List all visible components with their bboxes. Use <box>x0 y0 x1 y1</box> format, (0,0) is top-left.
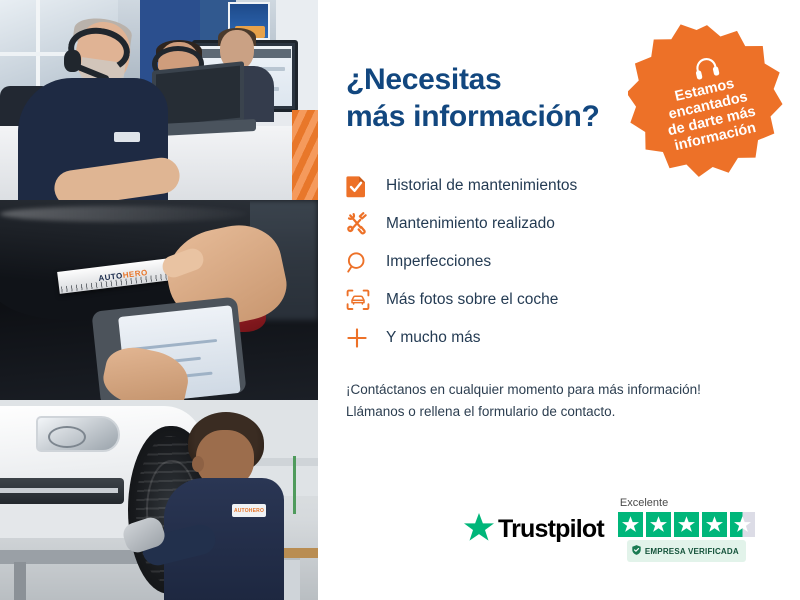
feature-item-mas: Y mucho más <box>346 319 772 357</box>
magnifier-icon <box>346 249 376 275</box>
photo-mechanic-ear <box>192 456 204 472</box>
star-rating <box>618 512 755 537</box>
features-list: Historial de mantenimientos <box>346 167 772 357</box>
star-filled <box>674 512 699 537</box>
photo-headlight <box>36 416 120 452</box>
feature-item-mantenimiento: Mantenimiento realizado <box>346 205 772 243</box>
photo-laptop-display <box>156 66 240 127</box>
trustpilot-logo[interactable]: Trustpilot <box>464 513 604 547</box>
rating-label: Excelente <box>620 497 668 509</box>
photo-column: AUTOHERO <box>0 0 318 600</box>
contact-line-2: Llámanos o rellena el formulario de cont… <box>346 401 772 423</box>
information-promo-panel: AUTOHERO <box>0 0 800 600</box>
plus-icon <box>346 325 376 351</box>
feature-label: Imperfecciones <box>386 253 491 271</box>
car-inspection-ruler-photo: AUTOHERO <box>0 200 318 400</box>
page-title-line-1: ¿Necesitas <box>346 63 501 96</box>
star-filled <box>702 512 727 537</box>
feature-label: Historial de mantenimientos <box>386 177 577 195</box>
photo-mechanic: AUTOHERO <box>158 412 284 600</box>
photo-agent-1 <box>18 22 168 200</box>
trustpilot-rating: Excelente <box>618 497 755 562</box>
photo-car-highlight <box>0 206 248 222</box>
photo-agent-badge <box>114 132 140 142</box>
photo-uniform-logo: AUTOHERO <box>232 504 266 517</box>
feature-item-imperfecciones: Imperfecciones <box>346 243 772 281</box>
star-half <box>730 512 755 537</box>
contact-starburst-badge: Estamos encantados de darte más informac… <box>628 22 786 180</box>
feature-label: Y mucho más <box>386 329 480 347</box>
photo-orange-rack <box>292 110 318 200</box>
star-filled <box>618 512 643 537</box>
verified-company-badge: EMPRESA VERIFICADA <box>627 540 746 562</box>
contact-text: ¡Contáctanos en cualquier momento para m… <box>346 379 772 423</box>
trustpilot-widget[interactable]: Trustpilot Excelente <box>464 497 755 562</box>
mechanic-wheel-photo: AUTOHERO <box>0 400 318 600</box>
car-scan-icon <box>346 287 376 313</box>
contact-line-1: ¡Contáctanos en cualquier momento para m… <box>346 382 701 397</box>
shield-check-icon <box>632 542 641 560</box>
photo-chrome-trim <box>0 488 118 493</box>
star-filled <box>646 512 671 537</box>
tools-cross-icon <box>346 211 376 237</box>
call-center-agents-photo <box>0 0 318 200</box>
feature-label: Mantenimiento realizado <box>386 215 555 233</box>
feature-label: Más fotos sobre el coche <box>386 291 558 309</box>
document-check-icon <box>346 173 376 199</box>
trustpilot-star-icon <box>464 513 494 547</box>
feature-item-fotos: Más fotos sobre el coche <box>346 281 772 319</box>
content-panel: ¿Necesitas más información? Estamos enca… <box>318 0 800 600</box>
photo-green-hose <box>293 456 296 514</box>
verified-label: EMPRESA VERIFICADA <box>645 547 739 556</box>
trustpilot-wordmark: Trustpilot <box>498 515 604 544</box>
photo-lift-post <box>14 562 26 600</box>
